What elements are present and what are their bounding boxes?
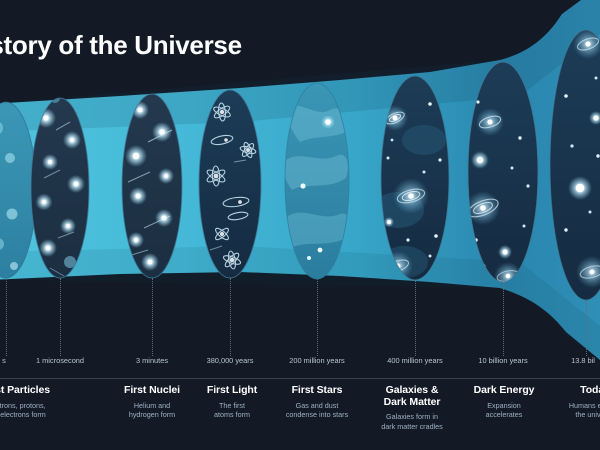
card-description: Gas and dust condense into stars <box>262 401 372 420</box>
connector-line <box>60 278 62 356</box>
connector-line <box>415 280 417 356</box>
card-heading: Today <box>552 385 600 397</box>
time-label: 13.8 bil <box>571 356 595 365</box>
panel-first-light <box>199 90 261 278</box>
time-label: 3 minutes <box>136 356 168 365</box>
connector-line <box>152 278 154 356</box>
time-label: 200 million years <box>289 356 344 365</box>
time-label: 380,000 years <box>207 356 254 365</box>
card-first-particles[interactable]: First Particles Neutrons, protons, and e… <box>0 385 76 420</box>
card-heading: First Particles <box>0 385 76 397</box>
timeline-axis: s 1 microsecond 3 minutes 380,000 years … <box>0 356 600 376</box>
card-description: Humans explore the universe <box>552 401 600 420</box>
card-first-stars[interactable]: First Stars Gas and dust condense into s… <box>262 385 372 420</box>
card-galaxies-dark-matter[interactable]: Galaxies & Dark Matter Galaxies form in … <box>358 385 466 431</box>
card-heading: Galaxies & Dark Matter <box>358 385 466 408</box>
time-label: 400 million years <box>387 356 442 365</box>
connector-line <box>317 279 319 356</box>
panel-first-stars <box>284 83 350 279</box>
panel-first-nuclei <box>122 94 182 278</box>
page-title: History of the Universe <box>0 30 242 61</box>
time-label: 10 billion years <box>478 356 527 365</box>
connector-line <box>6 278 8 356</box>
card-heading: Dark Energy <box>454 385 554 397</box>
connector-line <box>586 300 588 356</box>
axis-divider <box>0 378 600 379</box>
time-label: s <box>2 356 6 365</box>
card-description: Expansion accelerates <box>454 401 554 420</box>
card-dark-energy[interactable]: Dark Energy Expansion accelerates <box>454 385 554 420</box>
card-description: Galaxies form in dark matter cradles <box>358 412 466 431</box>
time-label: 1 microsecond <box>36 356 84 365</box>
card-description: Neutrons, protons, and electrons form <box>0 401 76 420</box>
infographic-canvas: History of the Universe s 1 microsecond … <box>0 0 600 450</box>
card-today[interactable]: Today Humans explore the universe <box>552 385 600 420</box>
card-heading: First Stars <box>262 385 372 397</box>
connector-line <box>503 282 505 356</box>
milestone-cards: First Particles Neutrons, protons, and e… <box>0 385 600 450</box>
connector-line <box>230 278 232 356</box>
